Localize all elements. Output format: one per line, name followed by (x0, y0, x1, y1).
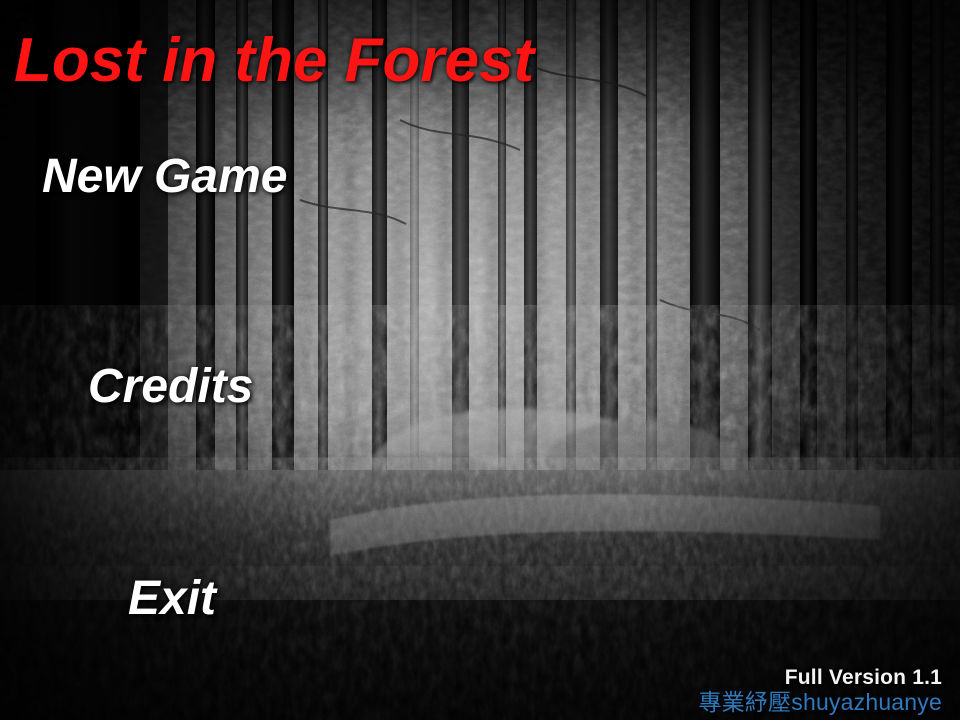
menu-item-exit[interactable]: Exit (128, 574, 216, 624)
menu-item-credits[interactable]: Credits (88, 362, 253, 412)
main-menu: Lost in the Forest New Game Credits Exit… (0, 0, 960, 720)
watermark-label: 專業紓壓shuyazhuanye (698, 689, 942, 716)
version-label: Full Version 1.1 (698, 666, 942, 690)
game-menu-screen: Lost in the Forest New Game Credits Exit… (0, 0, 960, 720)
game-title: Lost in the Forest (14, 28, 534, 93)
footer-block: Full Version 1.1 專業紓壓shuyazhuanye (698, 666, 942, 716)
menu-item-new-game[interactable]: New Game (42, 152, 287, 202)
